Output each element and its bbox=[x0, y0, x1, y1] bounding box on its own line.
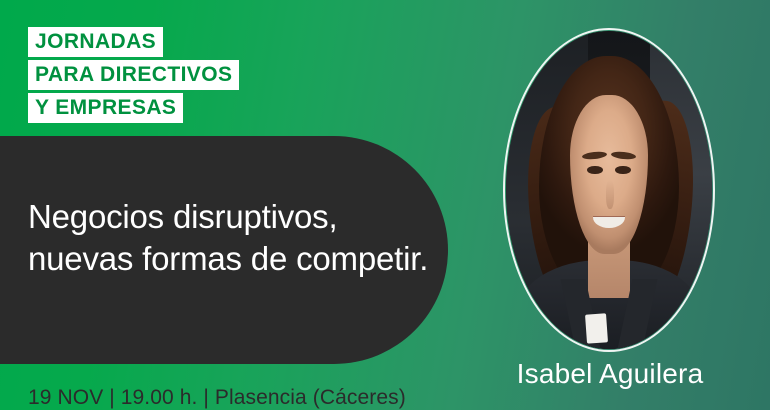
portrait-photo bbox=[506, 31, 712, 349]
headline-line-1: Negocios disruptivos, bbox=[28, 196, 428, 238]
portrait-image-clip bbox=[506, 31, 712, 349]
speaker-name: Isabel Aguilera bbox=[503, 360, 717, 388]
event-poster: JORNADAS PARA DIRECTIVOS Y EMPRESAS Nego… bbox=[0, 0, 770, 410]
headline-line-2: nuevas formas de competir. bbox=[28, 238, 428, 280]
kicker-line-2: PARA DIRECTIVOS bbox=[28, 60, 239, 90]
page-title: Negocios disruptivos, nuevas formas de c… bbox=[28, 196, 428, 280]
event-details: 19 NOV | 19.00 h. | Plasencia (Cáceres) bbox=[28, 386, 406, 410]
kicker-line-1: JORNADAS bbox=[28, 27, 163, 57]
kicker-line-3: Y EMPRESAS bbox=[28, 93, 183, 123]
portrait-shirt-cuff bbox=[585, 313, 608, 343]
portrait-nose bbox=[606, 180, 614, 209]
kicker-block: JORNADAS PARA DIRECTIVOS Y EMPRESAS bbox=[28, 27, 239, 123]
speaker-portrait bbox=[503, 28, 715, 352]
